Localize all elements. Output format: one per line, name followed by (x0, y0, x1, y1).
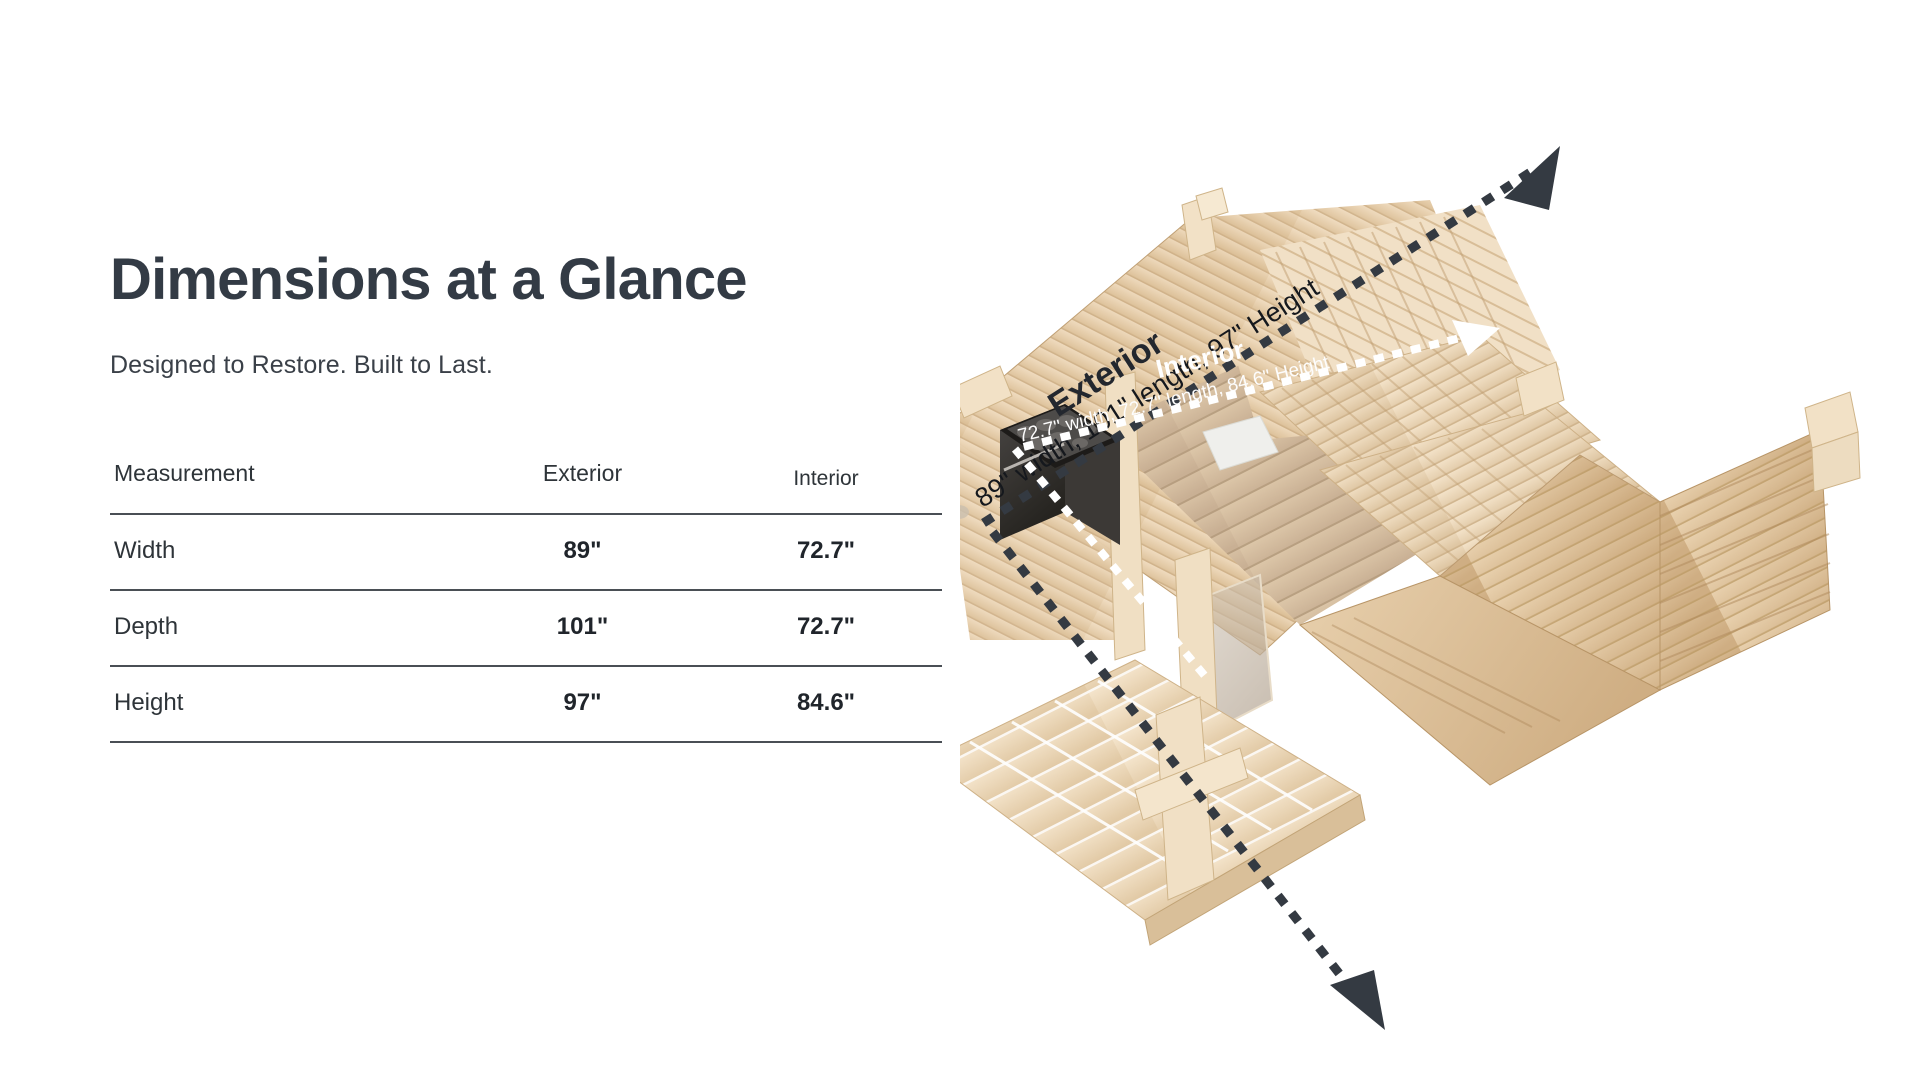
column-header-measurement: Measurement (110, 460, 455, 514)
cell-width-exterior: 89" (455, 514, 710, 590)
info-panel: Dimensions at a Glance Designed to Resto… (110, 250, 960, 743)
row-label-depth: Depth (110, 590, 455, 666)
sauna-structure (960, 188, 1860, 945)
page-subtitle: Designed to Restore. Built to Last. (110, 351, 960, 380)
cell-height-exterior: 97" (455, 666, 710, 742)
dimensions-slide: Dimensions at a Glance Designed to Resto… (0, 0, 1920, 1080)
cell-depth-exterior: 101" (455, 590, 710, 666)
table-header-row: Measurement Exterior Interior (110, 460, 942, 514)
table-row: Width 89" 72.7" (110, 514, 942, 590)
exterior-arrow-bottom (1330, 970, 1385, 1030)
corner-post-back-top (1196, 188, 1228, 220)
table-row: Depth 101" 72.7" (110, 590, 942, 666)
dimensions-table: Measurement Exterior Interior Width 89" … (110, 460, 942, 743)
exterior-arrow-top (1504, 146, 1560, 210)
cell-width-interior: 72.7" (710, 514, 942, 590)
page-title: Dimensions at a Glance (110, 250, 960, 311)
column-header-interior: Interior (710, 460, 942, 514)
row-label-width: Width (110, 514, 455, 590)
cell-height-interior: 84.6" (710, 666, 942, 742)
row-label-height: Height (110, 666, 455, 742)
table-body: Width 89" 72.7" Depth 101" 72.7" Height … (110, 514, 942, 742)
sauna-render: Exterior 89" width, 101" length, 97" Hei… (960, 0, 1920, 1080)
table-header: Measurement Exterior Interior (110, 460, 942, 514)
cell-depth-interior: 72.7" (710, 590, 942, 666)
column-header-exterior: Exterior (455, 460, 710, 514)
table-row: Height 97" 84.6" (110, 666, 942, 742)
